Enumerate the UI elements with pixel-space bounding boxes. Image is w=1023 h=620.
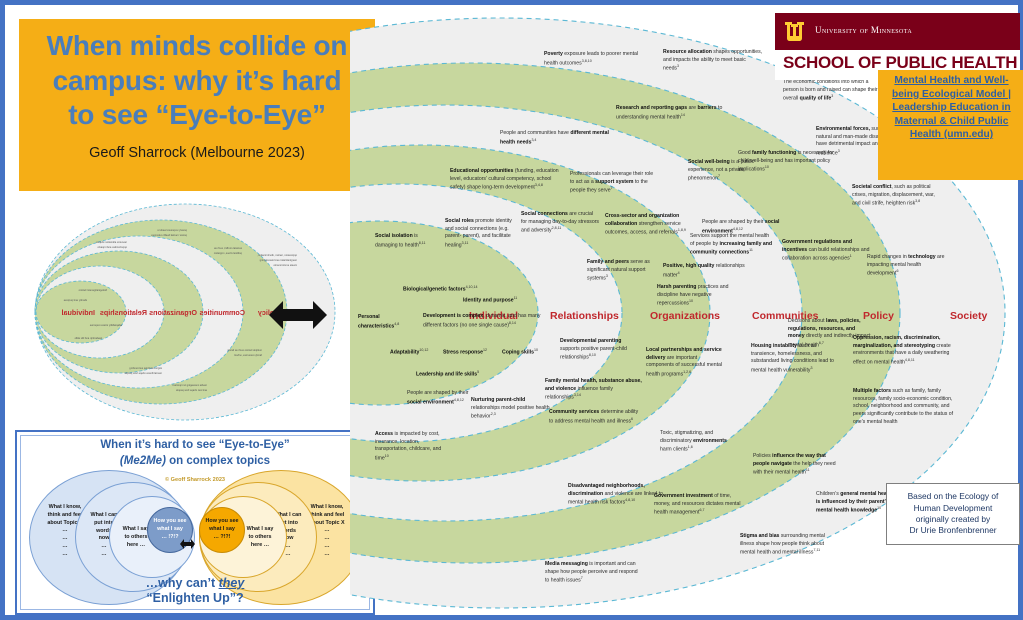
title-line-2: campus: why it’s hard [27,64,367,99]
title-line-1: When minds collide on [27,29,367,64]
model-note: Government regulations and incentives ca… [782,239,874,264]
model-note: Family mental health, substance abuse, a… [545,378,645,403]
ring-label-relationships: Relationships [550,310,619,322]
model-note: Resource allocation shapes opportunities… [663,49,763,74]
svg-text:resource allocation shapes: resource allocation shapes [95,240,127,244]
model-note: Children’s general mental health is infl… [816,491,896,516]
model-note: Stress response12 [443,348,495,357]
ring-label-society: Society [950,310,987,322]
svg-text:oppression, racism, discrimina: oppression, racism, discrimination, [257,253,297,257]
mirror-ring-label-communities: Communities [199,308,245,317]
venn-right-third-text: What I sayto othershere … [240,525,280,550]
model-note: People and communities have different me… [500,130,610,147]
attribution-line-2: Human Development [914,503,993,513]
slide-canvas: When minds collide on campus: why it’s h… [0,0,1023,620]
model-note: Local partnerships and service delivery … [646,347,726,380]
svg-text:identity and purpose: identity and purpose [63,298,87,302]
umn-brand-bar: University of Minnesota [775,13,1020,50]
model-note: Identity and purpose11 [463,296,535,305]
model-note: Services support the mental health of pe… [690,233,774,258]
model-note: Professionals can leverage their role to… [570,171,658,196]
ring-label-organizations: Organizations [650,310,720,322]
link-line-6: (umn.edu) [944,129,993,140]
mirror-ring-label-organizations: Organizations [149,308,197,317]
svg-text:societal conflict, such as: societal conflict, such as [213,246,242,250]
model-note: Poverty exposure leads to poorer mental … [544,51,642,68]
svg-text:marginalization and stereotypi: marginalization and stereotyping [259,258,297,262]
model-note: Leadership and life skills5 [416,370,498,379]
venn-footer-text1: …why can’t [146,576,219,590]
svg-text:leadership and life skills: leadership and life skills [74,336,102,340]
umn-model-link-box[interactable]: Mental Health and Well-being Ecological … [878,70,1023,180]
svg-text:create environments: create environments [273,263,297,267]
venn-footer: …why can’t they “Enlighten Up”? [17,576,373,607]
model-note: Developmental parenting supports positiv… [560,338,636,363]
venn-footer-line2: “Enlighten Up”? [17,591,373,607]
svg-text:family resources, school: family resources, school [234,353,262,357]
venn-heading: When it’s hard to see “Eye-to-Eye” (Me2M… [17,438,373,469]
model-note: Stigma and bias surrounding mental illne… [740,533,830,558]
model-note: People are shaped by their social enviro… [407,390,469,407]
model-note: Cross-sector and organization collaborat… [605,213,701,238]
slide-title-box: When minds collide on campus: why it’s h… [19,19,375,191]
attribution-line-4: Dr Urie Bronfenbrenner [909,525,996,535]
model-note: Social roles promote identity and social… [445,218,517,251]
model-note: Oppression, racism, discrimination, marg… [853,335,957,368]
model-note: Community services determine ability to … [549,409,641,426]
link-line-1: Mental Health and [894,75,981,86]
page-title: When minds collide on campus: why it’s h… [27,29,367,133]
model-note: Multiple factors such as family, family … [853,388,963,427]
title-byline: Geoff Sharrock (Melbourne 2023) [27,145,367,161]
model-note: Harsh parenting practices and discipline… [657,284,747,309]
me2me-venn-panel: When it’s hard to see “Eye-to-Eye” (Me2M… [15,430,375,615]
model-note: Access is impacted by cost, insurance, l… [375,431,449,464]
model-note: Adaptability10,12 [390,348,440,357]
model-note: The economic conditions into which a per… [783,79,883,104]
venn-right-core-circle: How you seewhat I say… ?!?! [199,507,245,553]
svg-text:poverty exposure leads to: poverty exposure leads to [157,228,187,232]
svg-text:multiple factors such as famil: multiple factors such as family, [227,348,262,352]
svg-text:and can shape how people: and can shape how people [175,388,207,392]
venn-footer-emph: they [219,576,245,590]
model-note: Disadvantaged neighborhoods, discriminat… [568,483,668,508]
attribution-text: Based on the Ecology of Human Developmen… [908,491,999,536]
svg-text:stigma and bias surrounding: stigma and bias surrounding [129,366,162,370]
model-note: Rapid changes in technology are impactin… [867,254,953,279]
model-note: Coping skills10 [502,348,550,357]
venn-right-core-text: How you seewhat I say… ?!?! [200,517,244,542]
venn-heading-line2: (Me2Me) on complex topics [17,454,373,470]
svg-text:biological/genetic factors: biological/genetic factors [78,288,107,292]
model-note: Personal characteristics4,8 [358,314,414,331]
title-line-3: to see “Eye-to-Eye” [27,98,367,133]
svg-text:adaptability stress response: adaptability stress response [89,323,122,327]
venn-me2me-label: (Me2Me) [120,455,166,467]
svg-text:mental illness shape how peopl: mental illness shape how people [124,371,162,375]
venn-heading-rest: on complex topics [166,455,270,467]
double-arrow-icon [267,295,329,335]
venn-footer-line1: …why can’t they [17,576,373,592]
model-note: Nurturing parent-child relationships mod… [471,397,553,422]
model-note: Policies influence the way that people n… [753,453,841,478]
model-note: Educational opportunities (funding, educ… [450,168,560,193]
model-note: Positive, high quality relationships mat… [663,263,747,280]
model-note: Government investment of time, money, an… [654,493,746,518]
model-note: Social isolation is damaging to health8,… [375,233,439,250]
model-note: Family and peers serve as significant na… [587,259,657,284]
svg-text:poorer mental health outcomes: poorer mental health outcomes [151,233,187,237]
umn-logo-icon [783,19,809,44]
model-note: People are shaped by their social enviro… [702,219,788,236]
svg-text:opportunities and impacts: opportunities and impacts [97,245,127,249]
model-note: Social well-being is a public experience… [688,159,776,184]
venn-heading-line1: When it’s hard to see “Eye-to-Eye” [17,438,373,454]
svg-text:political crises, migration: political crises, migration [213,251,242,255]
attribution-line-1: Based on the Ecology of [908,491,999,501]
model-note: Social connections are crucial for manag… [521,211,599,236]
model-note: Toxic, stigmatizing, and discriminatory … [660,430,732,455]
mirror-ring-label-individual: Individual [61,308,95,317]
model-note: Biological/genetic factors4,10,14 [403,285,495,294]
attribution-box: Based on the Ecology of Human Developmen… [886,483,1020,545]
venn-double-arrow-icon [180,538,195,550]
mirror-ring-label-relationships: Relationships [100,308,147,317]
model-note: Media messaging is important and can sha… [545,561,641,586]
umn-wordmark: University of Minnesota [815,25,912,35]
attribution-line-3: originally created by [916,514,990,524]
model-note: Societal conflict, such as political cri… [852,184,944,209]
model-note: Research and reporting gaps are barriers… [616,105,728,122]
model-note: Development is complex, dynamic, and has… [423,313,541,330]
svg-text:media messaging is important: media messaging is important [172,383,207,387]
umn-model-link[interactable]: Mental Health and Well-being Ecological … [881,74,1022,142]
